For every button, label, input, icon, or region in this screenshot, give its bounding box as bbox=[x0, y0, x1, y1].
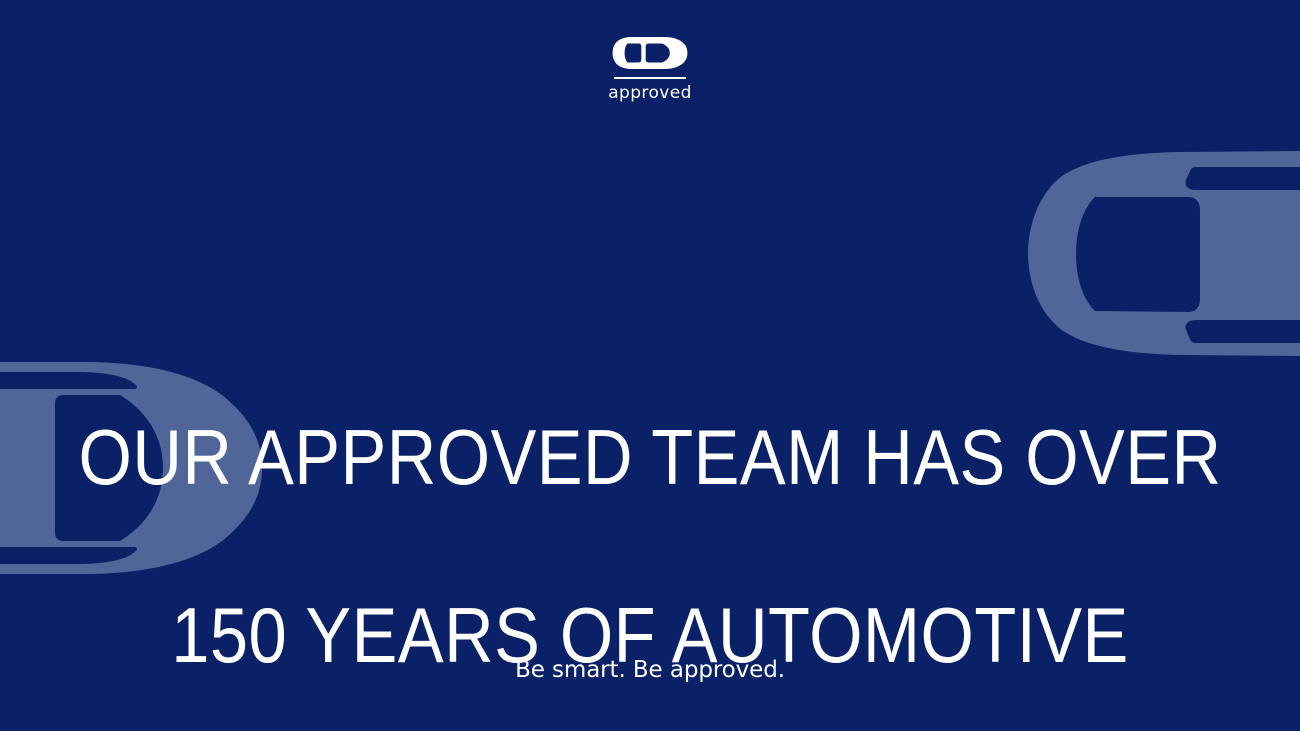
car-top-view-icon bbox=[612, 36, 688, 70]
headline-line-1: OUR APPROVED TEAM HAS OVER bbox=[78, 413, 1222, 502]
logo-lockup: approved bbox=[0, 36, 1300, 104]
tagline: Be smart. Be approved. bbox=[0, 655, 1300, 685]
logo-divider-rule bbox=[614, 77, 686, 79]
logo-wordmark: approved bbox=[608, 83, 692, 104]
promo-slide: approved OUR APPROVED TEAM HAS OVER 150 … bbox=[0, 0, 1300, 731]
